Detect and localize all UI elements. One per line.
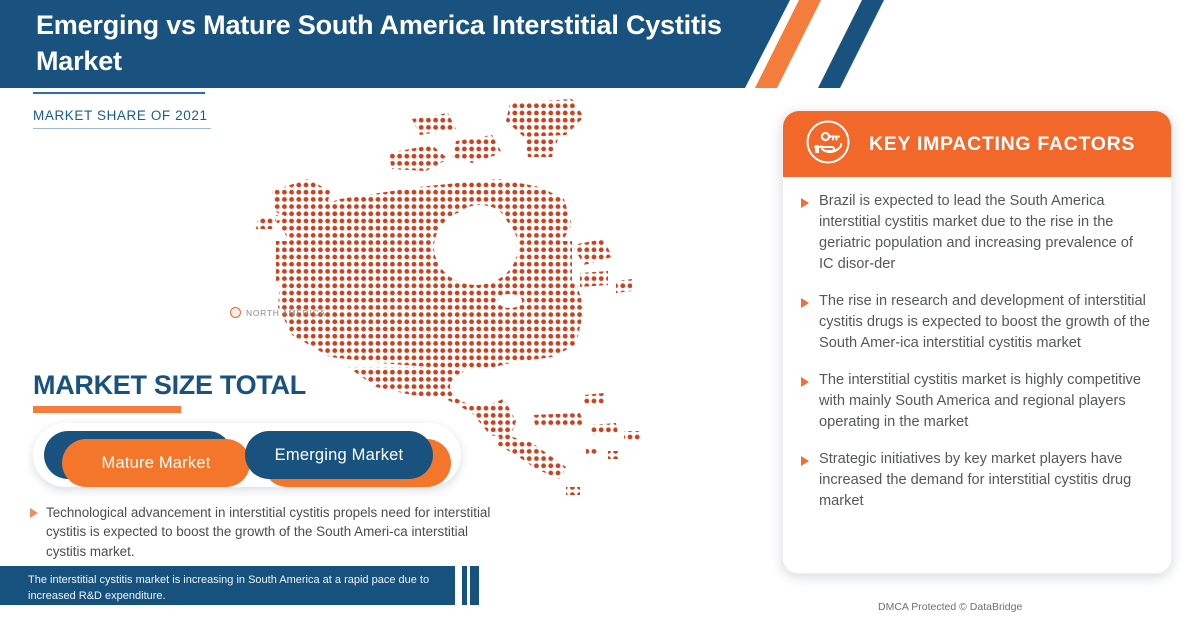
list-item: The rise in research and development of … [783, 291, 1171, 370]
list-item: Strategic initiatives by key market play… [783, 449, 1171, 528]
map-region-label: NORTH AMERICA [246, 308, 326, 318]
key-impacting-factors-header: KEY IMPACTING FACTORS [783, 111, 1171, 177]
list-item-text: The rise in research and development of … [819, 291, 1151, 354]
triangle-right-icon [30, 508, 38, 518]
left-note-text: Technological advancement in interstitia… [46, 503, 500, 561]
mature-market-pill[interactable]: Mature Market [62, 439, 250, 487]
bottom-accent-bar-1 [462, 566, 467, 605]
market-pill-card: Mature Market Emerging Market [33, 423, 461, 487]
dmca-notice: DMCA Protected © DataBridge [878, 601, 1022, 613]
list-item-text: Brazil is expected to lead the South Ame… [819, 191, 1151, 275]
map-region-marker: NORTH AMERICA [230, 307, 326, 318]
triangle-right-icon [801, 198, 809, 208]
bottom-highlight-text: The interstitial cystitis market is incr… [28, 573, 440, 605]
infographic-page: Emerging vs Mature South America Interst… [0, 0, 1200, 618]
left-note: Technological advancement in interstitia… [30, 503, 500, 561]
market-size-total-underline [33, 406, 181, 413]
list-item-text: Strategic initiatives by key market play… [819, 449, 1151, 512]
key-impacting-factors-list: Brazil is expected to lead the South Ame… [783, 177, 1171, 528]
triangle-right-icon [801, 456, 809, 466]
marker-dot-icon [230, 307, 241, 318]
list-item-text: The interstitial cystitis market is high… [819, 370, 1151, 433]
header: Emerging vs Mature South America Interst… [0, 0, 1200, 88]
triangle-right-icon [801, 377, 809, 387]
triangle-right-icon [801, 298, 809, 308]
market-size-total-block: MARKET SIZE TOTAL [33, 370, 306, 413]
key-impacting-factors-panel: KEY IMPACTING FACTORS Brazil is expected… [782, 110, 1172, 574]
market-size-total-title: MARKET SIZE TOTAL [33, 370, 306, 401]
list-item: The interstitial cystitis market is high… [783, 370, 1171, 449]
list-item: Brazil is expected to lead the South Ame… [783, 191, 1171, 291]
emerging-market-pill[interactable]: Emerging Market [245, 431, 433, 479]
hand-holding-key-icon [805, 119, 851, 170]
bottom-highlight-bar: The interstitial cystitis market is incr… [0, 566, 455, 605]
header-stripe-blue [818, 0, 884, 88]
market-share-rule-top [33, 92, 205, 94]
bottom-accent-bar-2 [470, 566, 479, 605]
page-title: Emerging vs Mature South America Interst… [36, 8, 746, 79]
key-impacting-factors-title: KEY IMPACTING FACTORS [869, 133, 1135, 156]
